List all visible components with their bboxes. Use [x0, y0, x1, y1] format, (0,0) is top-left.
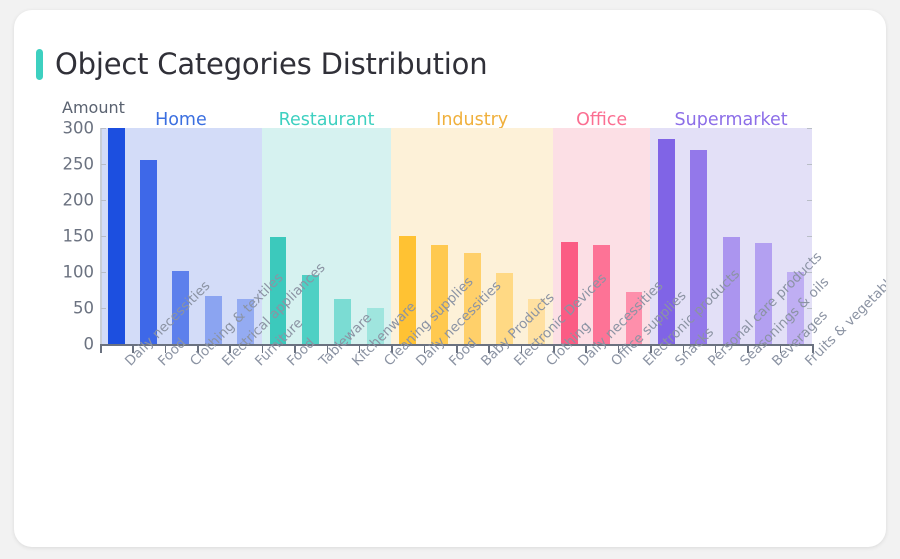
group-label-industry: Industry	[436, 110, 508, 130]
group-label-home: Home	[155, 110, 207, 130]
x-tick-label: Snacks	[672, 358, 683, 369]
y-tick-mark-right	[807, 200, 812, 201]
x-tick-label: Daily necessities	[122, 358, 133, 369]
y-tick-label: 300	[63, 119, 95, 138]
x-tick-label: Furniture	[252, 358, 263, 369]
y-axis-tick-labels: 050100150200250300	[46, 128, 94, 344]
y-tick-mark	[101, 164, 106, 165]
y-tick-label: 200	[63, 191, 95, 210]
x-tick-label: Food	[155, 358, 166, 369]
y-tick-mark-right	[807, 236, 812, 237]
x-tick-label: Kitchenware	[349, 358, 360, 369]
x-tick-label: Electronic Devices	[511, 358, 522, 369]
y-tick-label: 50	[73, 299, 94, 318]
plot-wrapper: 050100150200250300 HomeRestaurantIndustr…	[14, 10, 886, 547]
x-tick-label: Electronic products	[640, 358, 651, 369]
bar[interactable]	[108, 128, 125, 344]
x-tick-label: Food	[446, 358, 457, 369]
y-tick-mark	[101, 128, 106, 129]
y-tick-mark	[101, 272, 106, 273]
x-tick-label: Electrical appliances	[219, 358, 230, 369]
x-tick-label: Food	[284, 358, 295, 369]
x-tick-label: Baby Products	[478, 358, 489, 369]
x-tick-label: Office supplies	[608, 358, 619, 369]
y-tick-mark-right	[807, 308, 812, 309]
y-tick-label: 250	[63, 155, 95, 174]
y-tick-mark-right	[807, 164, 812, 165]
y-tick-label: 0	[84, 335, 95, 354]
group-label-office: Office	[576, 110, 627, 130]
x-tick-label: Daily necessities	[413, 358, 424, 369]
y-tick-label: 100	[63, 263, 95, 282]
x-tick-label: Daily necessities	[575, 358, 586, 369]
y-tick-mark-right	[807, 128, 812, 129]
y-tick-mark-right	[807, 272, 812, 273]
x-tick-label: Seasonings & oils	[737, 358, 748, 369]
y-tick-mark	[101, 200, 106, 201]
x-tick-label: Clothing & textiles	[187, 358, 198, 369]
group-label-restaurant: Restaurant	[279, 110, 375, 130]
y-tick-mark	[101, 236, 106, 237]
x-tick-label: Tableware	[316, 358, 327, 369]
x-tick-label: Clothing	[543, 358, 554, 369]
x-tick-label: Personal care products	[705, 358, 716, 369]
x-group-tick	[100, 344, 102, 353]
group-label-supermarket: Supermarket	[675, 110, 788, 130]
bar[interactable]	[140, 160, 157, 344]
x-tick-label: Beverages	[769, 358, 780, 369]
x-tick-label: Cleaning supplies	[381, 358, 392, 369]
chart-card: Object Categories Distribution Amount 05…	[14, 10, 886, 547]
y-tick-label: 150	[63, 227, 95, 246]
x-tick-label: Fruits & vegetables	[802, 358, 813, 369]
y-tick-mark	[101, 308, 106, 309]
